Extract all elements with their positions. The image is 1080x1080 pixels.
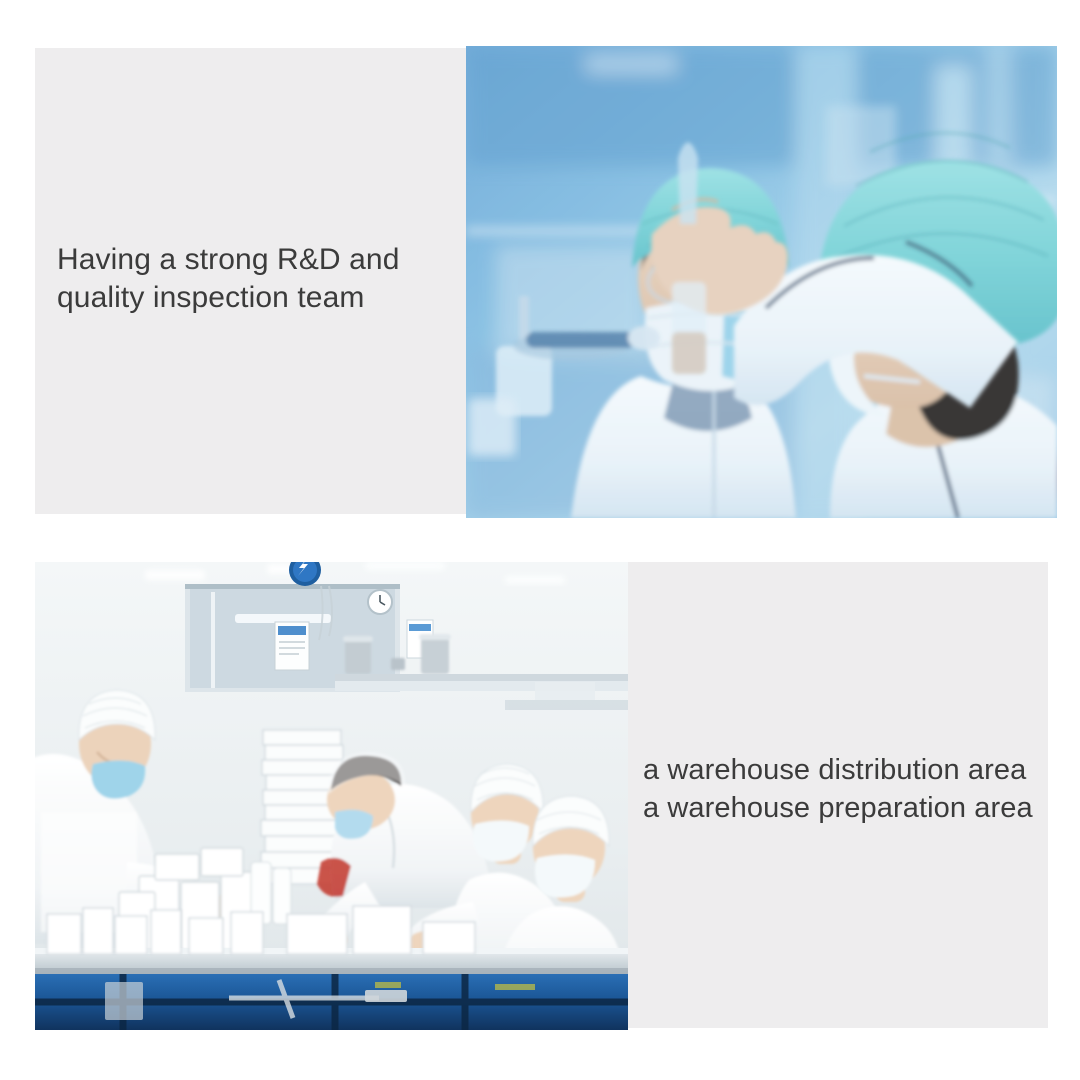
rnd-quality-caption: Having a strong R&D and quality inspecti… bbox=[57, 241, 457, 318]
warehouse-scene bbox=[35, 562, 628, 1030]
lab-scene bbox=[466, 46, 1057, 518]
warehouse-areas-caption: a warehouse distribution area a warehous… bbox=[643, 752, 1043, 827]
warehouse-scene-graphic bbox=[35, 562, 628, 1030]
warehouse-packing-photo bbox=[35, 562, 628, 1030]
lab-quality-inspection-photo bbox=[466, 46, 1057, 518]
lab-scene-graphic bbox=[466, 46, 1057, 518]
page-root: Having a strong R&D and quality inspecti… bbox=[0, 0, 1080, 1080]
